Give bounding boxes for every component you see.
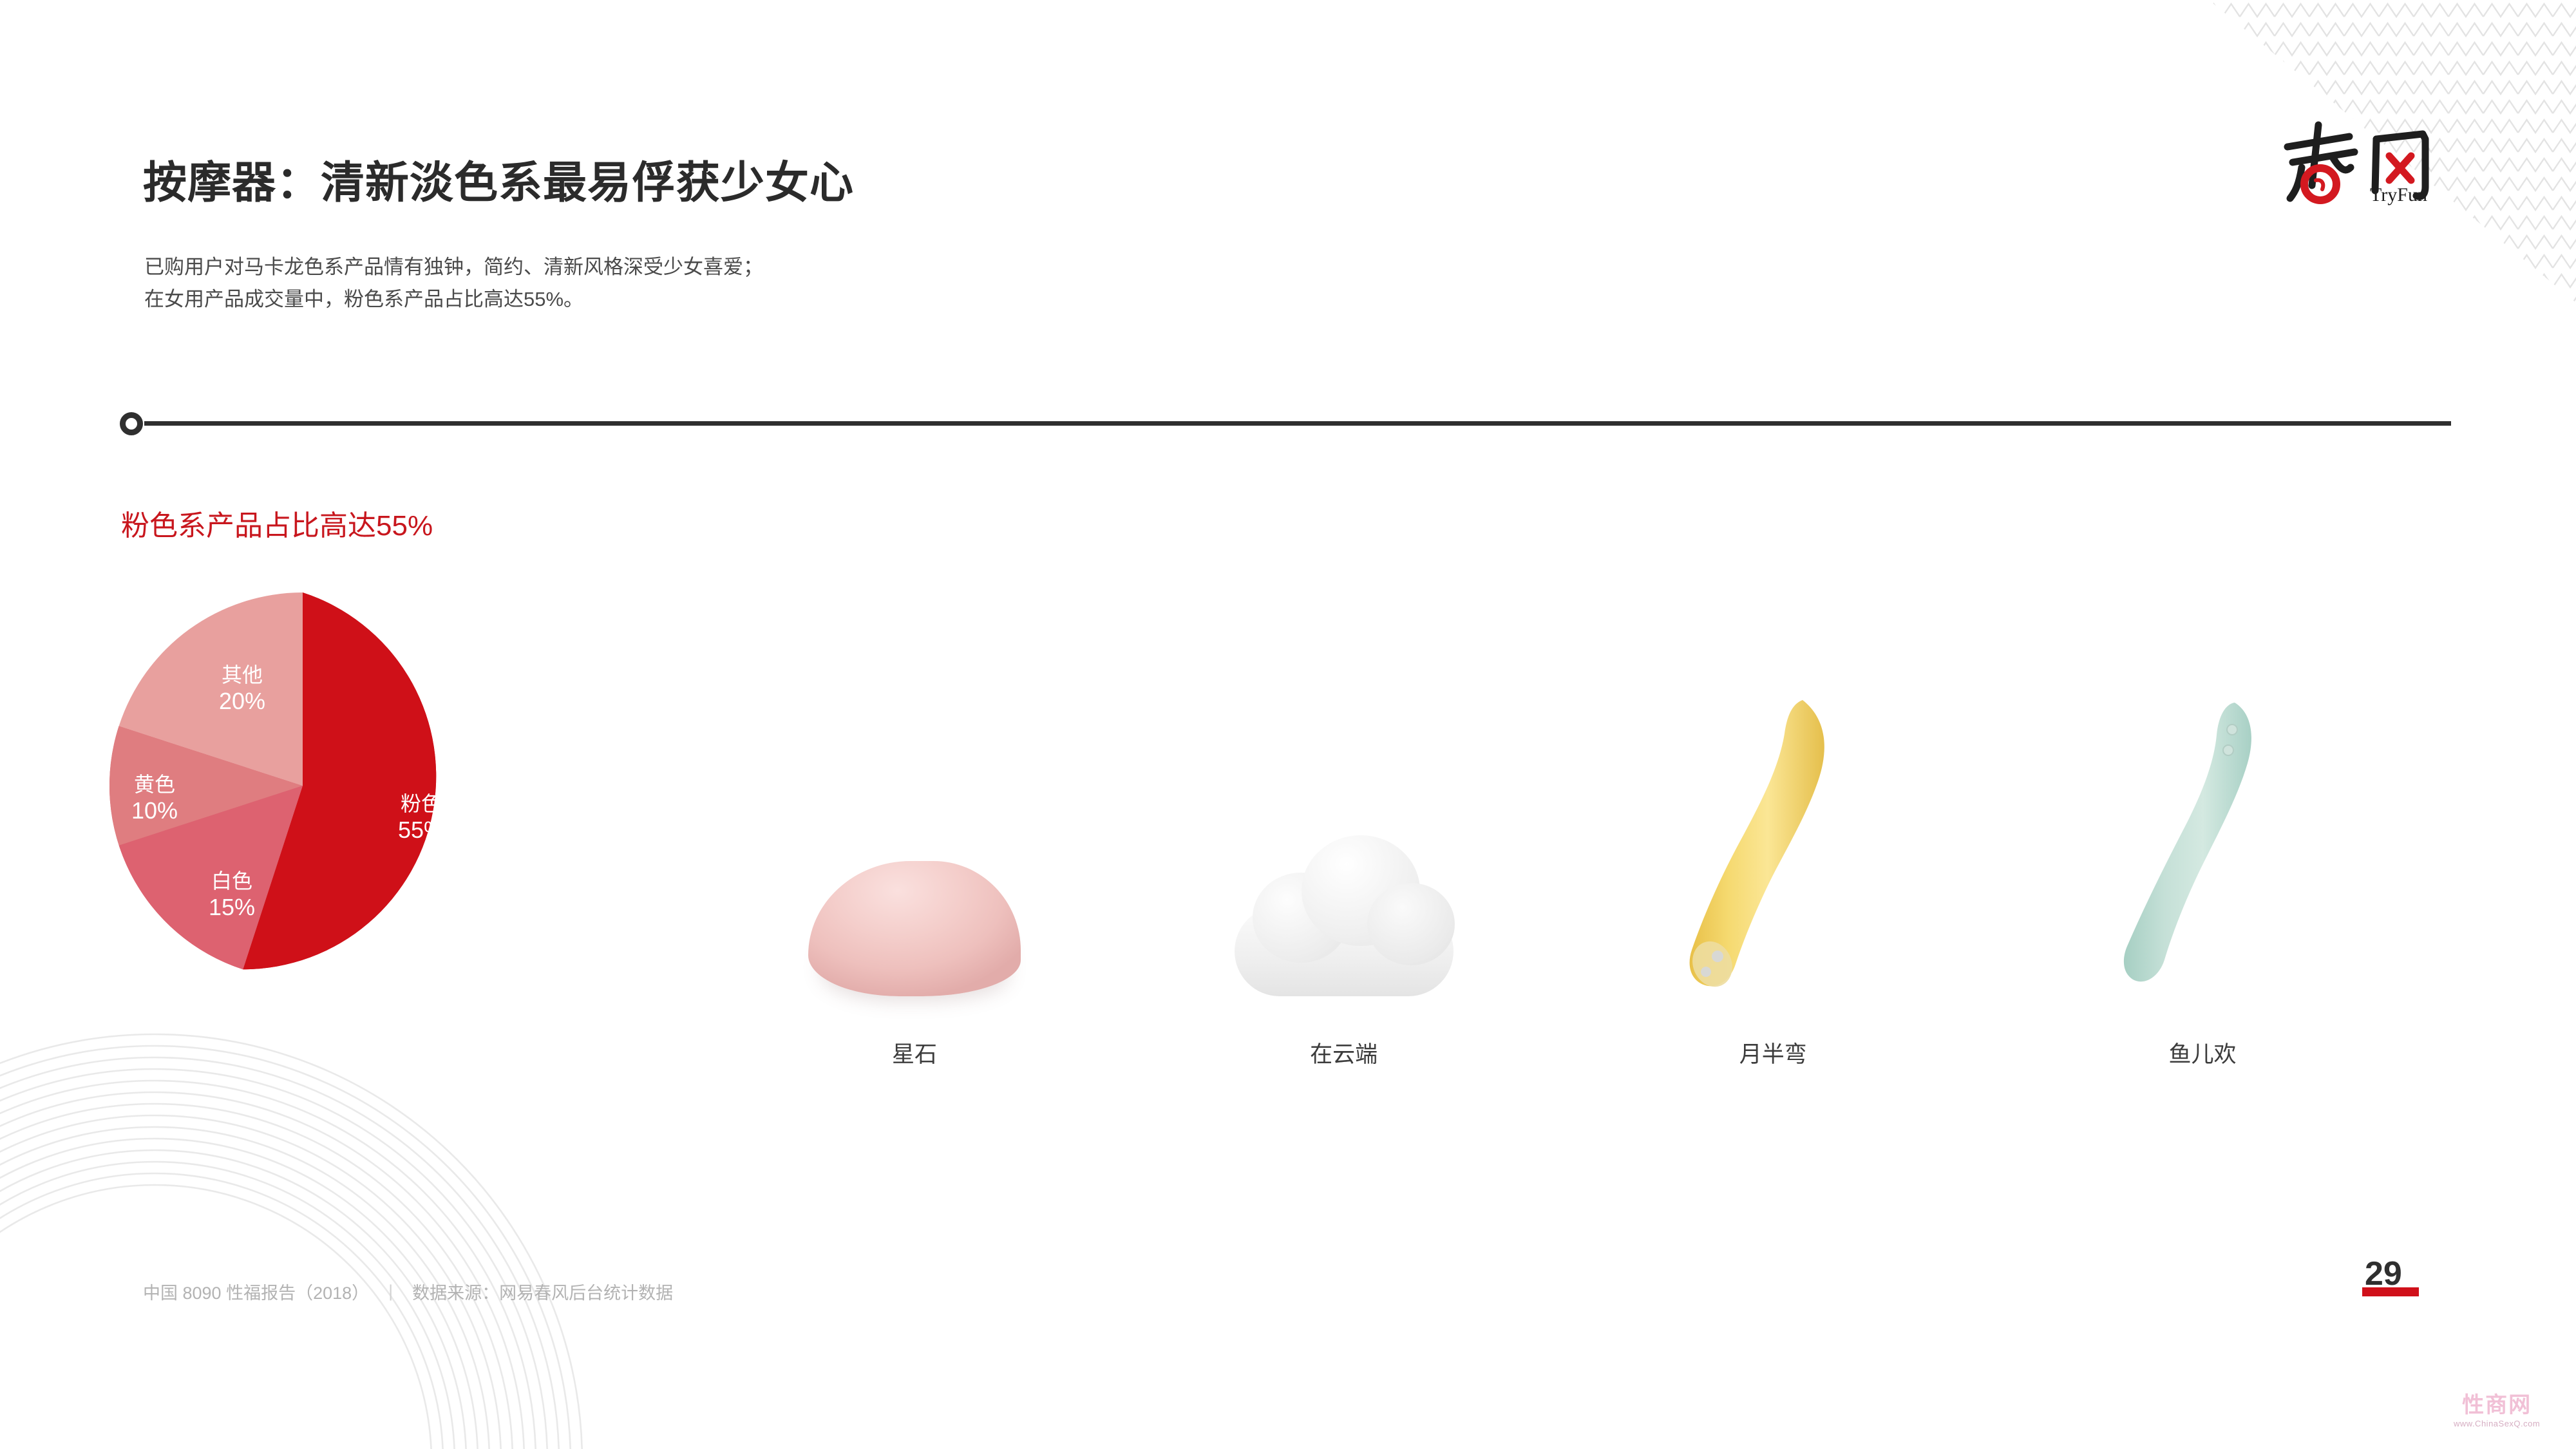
page-title: 按摩器：清新淡色系最易俘获少女心	[143, 147, 854, 211]
section-divider	[120, 410, 2451, 438]
subtitle-line-1: 已购用户对马卡龙色系产品情有独钟，简约、清新风格深受少女喜爱；	[144, 251, 763, 283]
product-card-1: 星石	[734, 687, 1095, 1069]
product-name-4: 鱼儿欢	[2168, 1036, 2236, 1069]
product-gallery: 星石 在云端	[734, 657, 2383, 1069]
footer-report-title: 中国 8090 性福报告（2018）	[143, 1279, 369, 1304]
product-image-yellow-wand	[1593, 687, 1953, 996]
product-name-3: 月半弯	[1739, 1036, 1807, 1069]
page-number: 29	[2365, 1257, 2402, 1291]
chart-heading: 粉色系产品占比高达55%	[121, 502, 433, 544]
footer-separator: |	[388, 1282, 393, 1302]
watermark-url: www.ChinaSexQ.com	[2454, 1419, 2540, 1428]
subtitle-line-2: 在女用产品成交量中，粉色系产品占比高达55%。	[144, 283, 763, 316]
pebble-shape-icon	[808, 861, 1021, 996]
product-card-4: 鱼儿欢	[2022, 687, 2383, 1069]
product-card-2: 在云端	[1164, 687, 1524, 1069]
divider-ring-icon	[120, 412, 143, 435]
site-watermark: 性商网 www.ChinaSexQ.com	[2454, 1394, 2540, 1428]
product-name-1: 星石	[892, 1036, 937, 1069]
product-image-pebble	[734, 687, 1095, 996]
product-image-cloud	[1164, 687, 1524, 996]
product-image-mint-wand	[2022, 687, 2383, 996]
curved-wand-shape-icon	[1676, 694, 1870, 996]
logo-brand-en: TryFun	[2370, 184, 2427, 205]
footer-data-source: 数据来源：网易春风后台统计数据	[412, 1279, 673, 1304]
watermark-name: 性商网	[2454, 1394, 2540, 1416]
product-name-2: 在云端	[1310, 1036, 1378, 1069]
pie-chart: 粉色 55% 白色 15% 黄色 10% 其他 20%	[109, 592, 586, 1069]
product-card-3: 月半弯	[1593, 687, 1953, 1069]
slim-wand-shape-icon	[2119, 694, 2286, 996]
brand-logo: TryFun	[2273, 108, 2467, 211]
divider-rule	[144, 421, 2451, 426]
page-number-underline	[2362, 1287, 2419, 1296]
footer: 中国 8090 性福报告（2018） | 数据来源：网易春风后台统计数据	[143, 1279, 673, 1304]
slide-canvas: TryFun 按摩器：清新淡色系最易俘获少女心 已购用户对马卡龙色系产品情有独钟…	[0, 0, 2576, 1449]
cloud-shape-icon	[1235, 855, 1454, 996]
subtitle-block: 已购用户对马卡龙色系产品情有独钟，简约、清新风格深受少女喜爱； 在女用产品成交量…	[144, 251, 763, 316]
